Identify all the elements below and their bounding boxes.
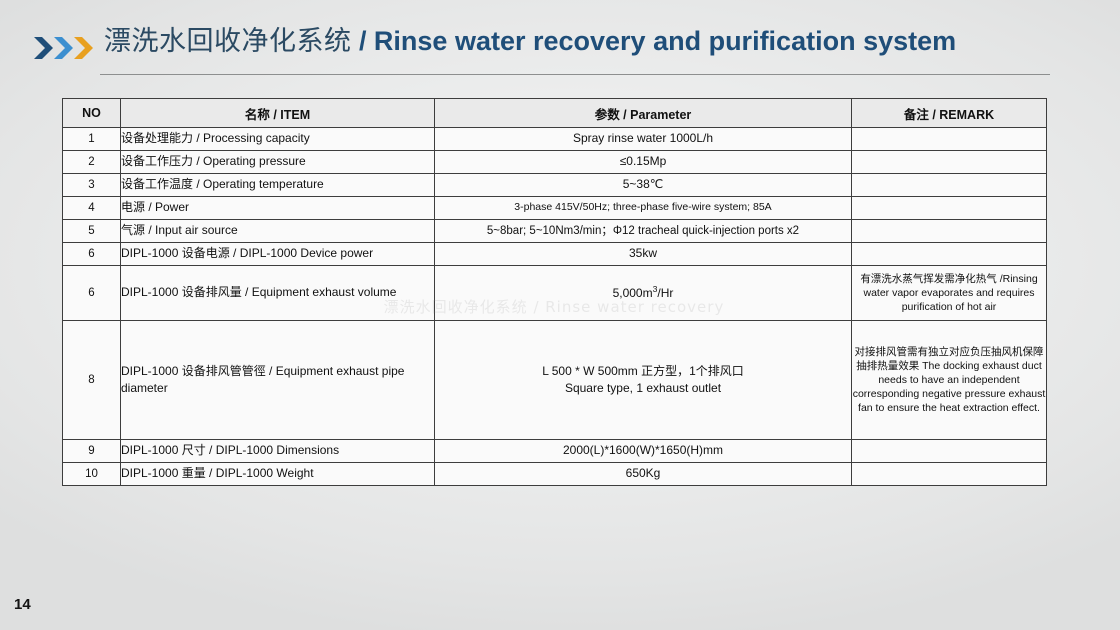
table-header-row: NO 名称 / ITEM 参数 / Parameter 备注 / REMARK — [63, 99, 1047, 128]
page-number: 14 — [14, 596, 31, 613]
chevron-orange-icon — [74, 37, 93, 59]
row-item: 气源 / Input air source — [121, 220, 435, 243]
table-row: 10 DIPL-1000 重量 / DIPL-1000 Weight 650Kg — [63, 463, 1047, 486]
row-remark — [852, 128, 1047, 151]
page-title: 漂洗水回收净化系统 / Rinse water recovery and pur… — [104, 28, 956, 55]
column-header-no: NO — [63, 99, 121, 128]
table-row: 3 设备工作温度 / Operating temperature 5~38℃ — [63, 174, 1047, 197]
row-param: 5~8bar; 5~10Nm3/min；Φ12 tracheal quick-i… — [435, 220, 852, 243]
row-no: 5 — [63, 220, 121, 243]
row-no: 2 — [63, 151, 121, 174]
row-remark — [852, 220, 1047, 243]
header-divider-rule — [100, 74, 1050, 75]
row-param: 2000(L)*1600(W)*1650(H)mm — [435, 440, 852, 463]
row-param: 3-phase 415V/50Hz; three-phase five-wire… — [435, 197, 852, 220]
chevron-navy-icon — [34, 37, 53, 59]
table-row: 6 DIPL-1000 设备排风量 / Equipment exhaust vo… — [63, 266, 1047, 321]
column-header-param: 参数 / Parameter — [435, 99, 852, 128]
row-remark — [852, 243, 1047, 266]
row-param: 5,000m3/Hr — [435, 266, 852, 321]
row-item: DIPL-1000 设备排风管管徑 / Equipment exhaust pi… — [121, 321, 435, 440]
row-remark — [852, 174, 1047, 197]
row-no: 4 — [63, 197, 121, 220]
row-param: Spray rinse water 1000L/h — [435, 128, 852, 151]
row-remark — [852, 440, 1047, 463]
row-param: ≤0.15Mp — [435, 151, 852, 174]
row-remark — [852, 197, 1047, 220]
row-item: DIPL-1000 设备排风量 / Equipment exhaust volu… — [121, 266, 435, 321]
row-item: DIPL-1000 设备电源 / DIPL-1000 Device power — [121, 243, 435, 266]
row-no: 3 — [63, 174, 121, 197]
row-param-suffix: /Hr — [657, 286, 673, 300]
row-param: L 500 * W 500mm 正方型，1个排风口 Square type, 1… — [435, 321, 852, 440]
page-title-chinese: 漂洗水回收净化系统 — [104, 26, 352, 57]
chevron-blue-icon — [54, 37, 73, 59]
table-row: 9 DIPL-1000 尺寸 / DIPL-1000 Dimensions 20… — [63, 440, 1047, 463]
table-row: 1 设备处理能力 / Processing capacity Spray rin… — [63, 128, 1047, 151]
row-param-prefix: 5,000m — [613, 286, 653, 300]
table-row: 2 设备工作压力 / Operating pressure ≤0.15Mp — [63, 151, 1047, 174]
row-remark — [852, 151, 1047, 174]
column-header-item: 名称 / ITEM — [121, 99, 435, 128]
row-item: 设备工作温度 / Operating temperature — [121, 174, 435, 197]
row-param-line-1: L 500 * W 500mm 正方型，1个排风口 — [435, 363, 851, 380]
table-row: 4 电源 / Power 3-phase 415V/50Hz; three-ph… — [63, 197, 1047, 220]
row-remark: 有漂洗水蒸气挥发需净化热气 /Rinsing water vapor evapo… — [852, 266, 1047, 321]
row-no: 1 — [63, 128, 121, 151]
row-no: 8 — [63, 321, 121, 440]
row-param: 35kw — [435, 243, 852, 266]
table-row: 6 DIPL-1000 设备电源 / DIPL-1000 Device powe… — [63, 243, 1047, 266]
row-param: 650Kg — [435, 463, 852, 486]
row-item: 电源 / Power — [121, 197, 435, 220]
row-remark — [852, 463, 1047, 486]
table-row: 5 气源 / Input air source 5~8bar; 5~10Nm3/… — [63, 220, 1047, 243]
row-remark: 对接排风管需有独立对应负压抽风机保障抽排热量效果 The docking exh… — [852, 321, 1047, 440]
chevron-arrows-decoration — [34, 34, 98, 62]
row-param: 5~38℃ — [435, 174, 852, 197]
row-param-line-2: Square type, 1 exhaust outlet — [435, 380, 851, 397]
row-no: 6 — [63, 266, 121, 321]
column-header-remark: 备注 / REMARK — [852, 99, 1047, 128]
page-title-separator: / — [356, 26, 370, 56]
slide-header: 漂洗水回收净化系统 / Rinse water recovery and pur… — [0, 0, 1120, 82]
page-title-english: Rinse water recovery and purification sy… — [374, 26, 956, 56]
row-item: DIPL-1000 尺寸 / DIPL-1000 Dimensions — [121, 440, 435, 463]
row-no: 9 — [63, 440, 121, 463]
specification-table: NO 名称 / ITEM 参数 / Parameter 备注 / REMARK … — [62, 98, 1047, 486]
row-item: 设备处理能力 / Processing capacity — [121, 128, 435, 151]
row-item: DIPL-1000 重量 / DIPL-1000 Weight — [121, 463, 435, 486]
table-row: 8 DIPL-1000 设备排风管管徑 / Equipment exhaust … — [63, 321, 1047, 440]
row-no: 6 — [63, 243, 121, 266]
row-no: 10 — [63, 463, 121, 486]
row-item: 设备工作压力 / Operating pressure — [121, 151, 435, 174]
